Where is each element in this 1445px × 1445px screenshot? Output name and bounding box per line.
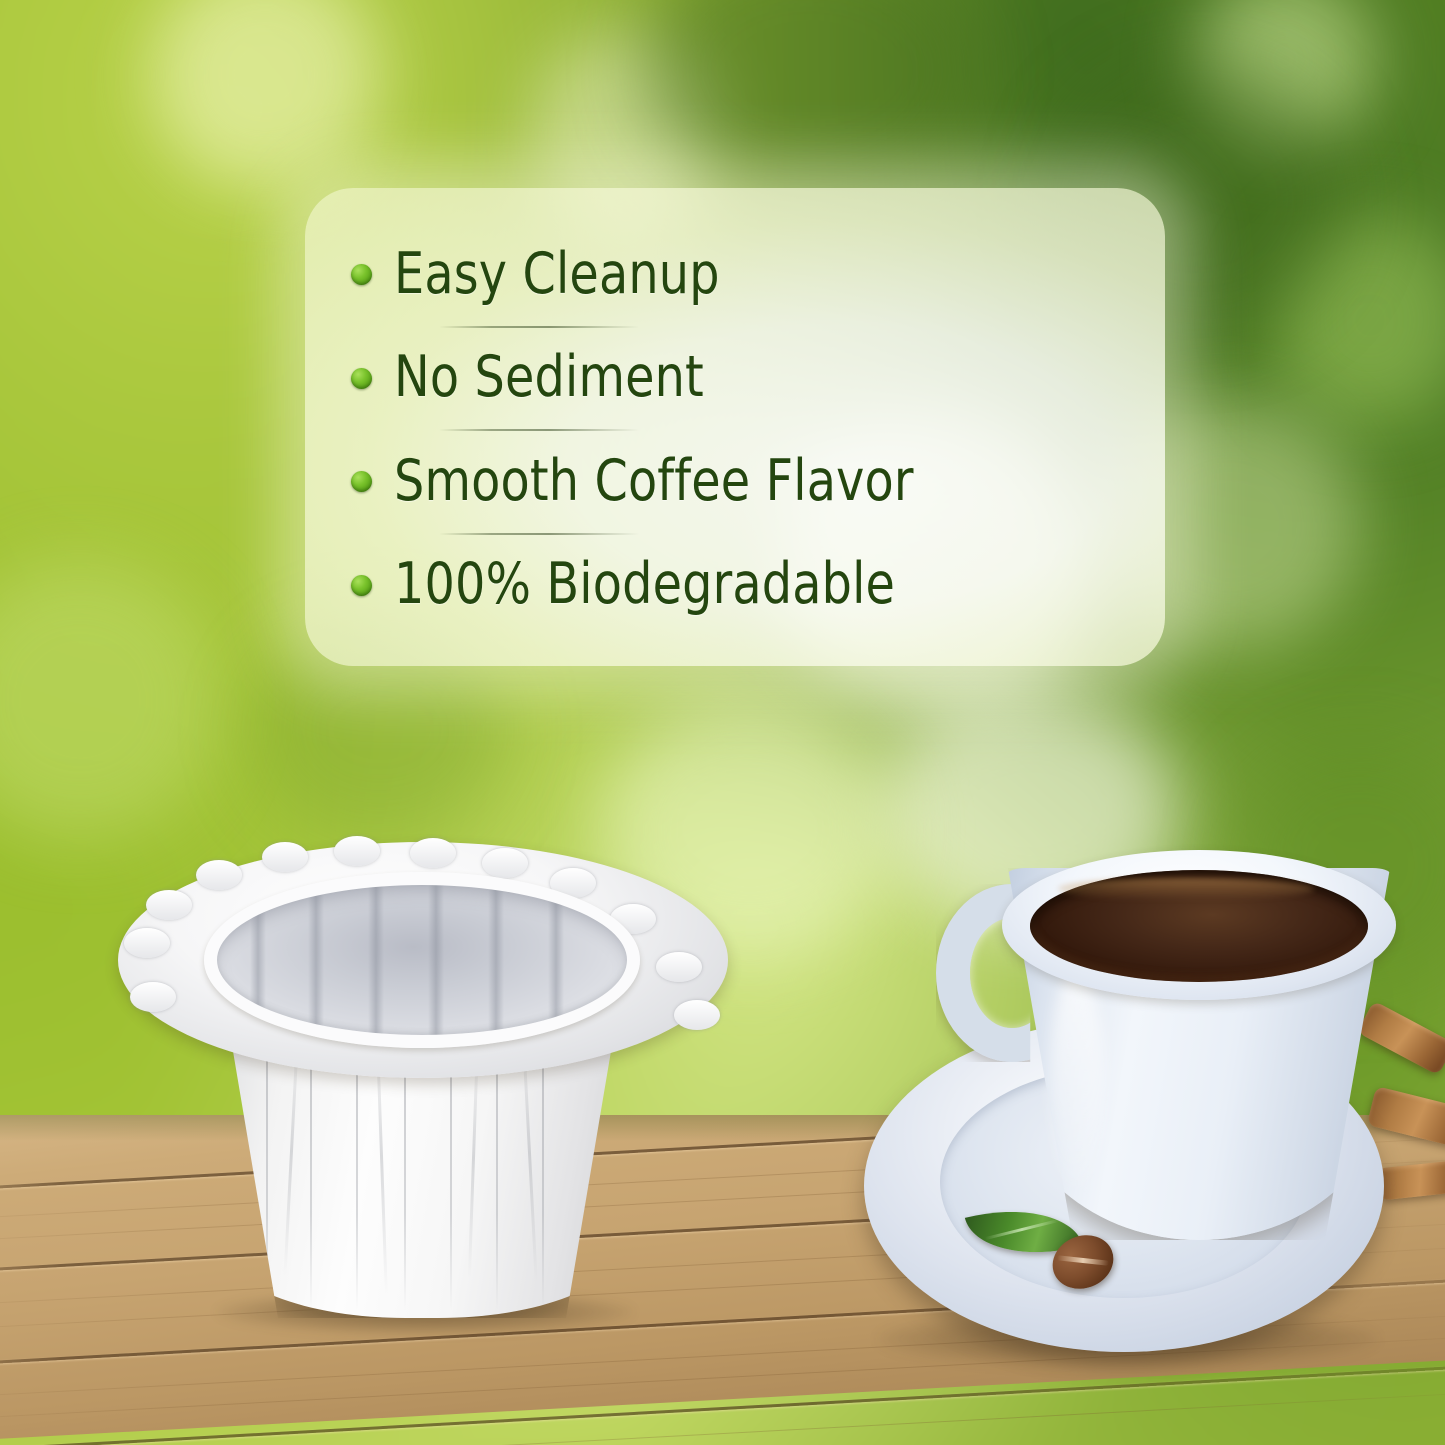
bullet-point-icon <box>351 264 372 285</box>
rim-flute <box>482 848 528 878</box>
bullet-point-icon <box>351 368 372 389</box>
feature-label: No Sediment <box>394 348 704 406</box>
rim-flute <box>674 1000 720 1030</box>
feature-highlight-card: Easy Cleanup No Sediment Smooth Coffee F… <box>305 188 1165 666</box>
cinnamon-stick <box>1377 1159 1445 1200</box>
rim-flute <box>334 836 380 866</box>
feature-label: Smooth Coffee Flavor <box>394 452 914 510</box>
rim-flute <box>410 838 456 868</box>
feature-list-item: Easy Cleanup <box>351 222 1135 326</box>
rim-flute <box>656 952 702 982</box>
cinnamon-stick <box>1357 1001 1445 1076</box>
coffee-reflection <box>1058 878 1314 900</box>
product-feature-image: Easy Cleanup No Sediment Smooth Coffee F… <box>0 0 1445 1445</box>
rim-flute <box>146 890 192 920</box>
feature-label: Easy Cleanup <box>394 245 720 303</box>
rim-flute <box>124 928 170 958</box>
feature-label: 100% Biodegradable <box>394 555 895 613</box>
cup-highlight <box>1050 968 1104 1188</box>
rim-flute <box>262 842 308 872</box>
coffee-cup-and-saucer <box>862 848 1445 1408</box>
bullet-point-icon <box>351 575 372 596</box>
rim-flute <box>196 860 242 890</box>
rim-flute <box>130 982 176 1012</box>
feature-list-item: No Sediment <box>351 326 1135 430</box>
paper-filter-cup <box>118 838 728 1338</box>
feature-list-item: 100% Biodegradable <box>351 533 1135 637</box>
bullet-point-icon <box>351 471 372 492</box>
filter-cup-lip <box>204 872 640 1048</box>
cinnamon-stick <box>1367 1086 1445 1150</box>
feature-list: Easy Cleanup No Sediment Smooth Coffee F… <box>305 188 1165 666</box>
feature-list-item: Smooth Coffee Flavor <box>351 429 1135 533</box>
